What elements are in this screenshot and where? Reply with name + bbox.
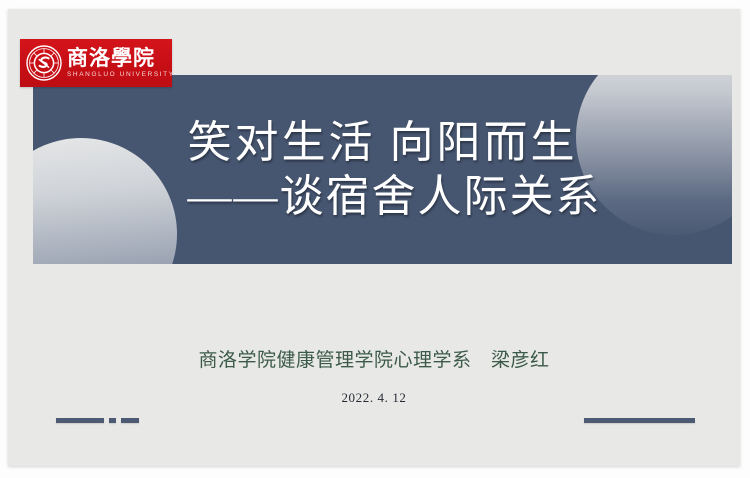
decorative-rule-left-short xyxy=(121,418,139,423)
university-logo: 商洛學院 SHANGLUO UNIVERSITY xyxy=(20,39,172,87)
university-wordmark: 商洛學院 SHANGLUO UNIVERSITY xyxy=(67,48,175,79)
university-name-en: SHANGLUO UNIVERSITY xyxy=(67,72,175,79)
page-title: 笑对生活 向阳而生 xyxy=(188,117,578,169)
presenter-affiliation: 商洛学院健康管理学院心理学系 梁彦红 xyxy=(8,345,740,372)
decorative-rule-left-long xyxy=(56,418,104,423)
title-banner: 笑对生活 向阳而生 ——谈宿舍人际关系 xyxy=(33,75,732,264)
university-seal-icon xyxy=(26,45,62,81)
presentation-date: 2022. 4. 12 xyxy=(8,390,740,406)
slide-viewport: 笑对生活 向阳而生 ——谈宿舍人际关系 xyxy=(0,0,750,478)
presentation-slide: 笑对生活 向阳而生 ——谈宿舍人际关系 xyxy=(8,9,740,466)
page-subtitle: ——谈宿舍人际关系 xyxy=(164,171,602,223)
decorative-rule-left-dot xyxy=(109,418,116,423)
university-name-cn: 商洛學院 xyxy=(67,48,175,69)
title-text-block: 笑对生活 向阳而生 ——谈宿舍人际关系 xyxy=(33,75,732,264)
decorative-rule-right-long xyxy=(584,418,695,423)
